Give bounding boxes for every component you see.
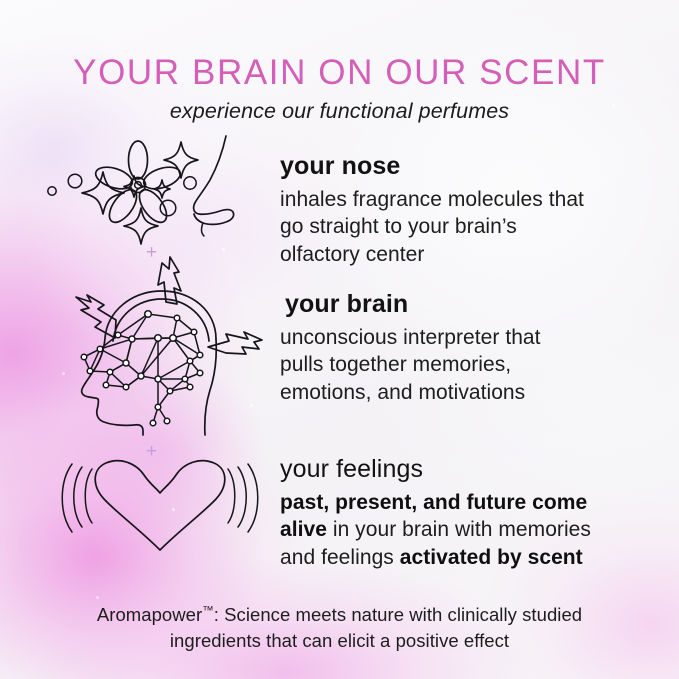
step-body-segment-bold: activated by scent [400, 546, 583, 569]
step-body-brain: unconscious interpreter that pulls toget… [280, 324, 645, 406]
step-body-line: inhales fragrance molecules that [280, 188, 584, 211]
heart-wave-left-1-icon [85, 469, 92, 523]
page-subtitle: experience our functional perfumes [0, 99, 679, 124]
step-body-segment-bold: alive [280, 518, 327, 541]
lightning-bolt-left-icon [76, 295, 116, 338]
step-row-brain: your brain unconscious interpreter that … [40, 275, 645, 435]
dot-icon [48, 187, 56, 195]
sparkle-icon [82, 172, 124, 214]
step-copy-feelings: your feelings past, present, and future … [280, 455, 645, 571]
step-body-segment-bold: past, present, and future come [280, 491, 587, 514]
step-body-line: go straight to your brain’s [280, 215, 517, 238]
step-heading-nose: your nose [280, 152, 645, 180]
step-body-line: pulls together memories, [280, 353, 511, 376]
footer-tagline: : Science meets nature with clinically s… [170, 604, 582, 651]
page-title: YOUR BRAIN ON OUR SCENT [0, 54, 679, 92]
step-row-feelings: your feelings past, present, and future … [40, 455, 645, 571]
nose-profile-icon [194, 136, 234, 224]
heart-wave-left-2-icon [74, 467, 82, 527]
footer-brand: Aromapower [97, 604, 202, 625]
dot-icon [68, 174, 82, 188]
nose-nostril-tail-icon [202, 223, 204, 236]
step-body-line: olfactory center [280, 243, 424, 266]
step-heading-feelings: your feelings [280, 455, 645, 483]
step-heading-brain: your brain [280, 290, 645, 318]
head-neural-network-icon [40, 275, 280, 435]
dot-icon [184, 177, 196, 189]
beating-heart-icon [40, 455, 280, 565]
step-body-segment: in your brain with memories [327, 518, 591, 541]
heart-wave-right-3-icon [248, 464, 258, 532]
heart-wave-left-3-icon [62, 464, 72, 532]
step-copy-nose: your nose inhales fragrance molecules th… [280, 140, 645, 268]
header-block: YOUR BRAIN ON OUR SCENT experience our f… [0, 54, 679, 124]
step-row-nose: your nose inhales fragrance molecules th… [40, 140, 645, 268]
head-back-icon [205, 339, 217, 435]
heart-wave-right-2-icon [238, 467, 246, 527]
heart-outline-icon [95, 461, 225, 550]
footer-block: Aromapower™: Science meets nature with c… [0, 602, 679, 655]
trademark-symbol: ™ [202, 605, 214, 617]
separator-plus-1: + [146, 243, 157, 262]
footer-text: Aromapower™: Science meets nature with c… [90, 602, 590, 655]
step-body-feelings: past, present, and future come alive in … [280, 489, 645, 571]
poster-canvas: YOUR BRAIN ON OUR SCENT experience our f… [0, 0, 679, 679]
neural-nodes-icon [81, 311, 203, 426]
heart-wave-right-1-icon [228, 469, 235, 523]
step-body-line: emotions, and motivations [280, 381, 525, 404]
background-speck [96, 596, 99, 599]
flower-sparkles-nose-icon [40, 140, 280, 255]
step-body-segment: and feelings [280, 546, 400, 569]
step-body-nose: inhales fragrance molecules that go stra… [280, 186, 645, 268]
step-copy-brain: your brain unconscious interpreter that … [280, 275, 645, 406]
step-body-line: unconscious interpreter that [280, 326, 541, 349]
